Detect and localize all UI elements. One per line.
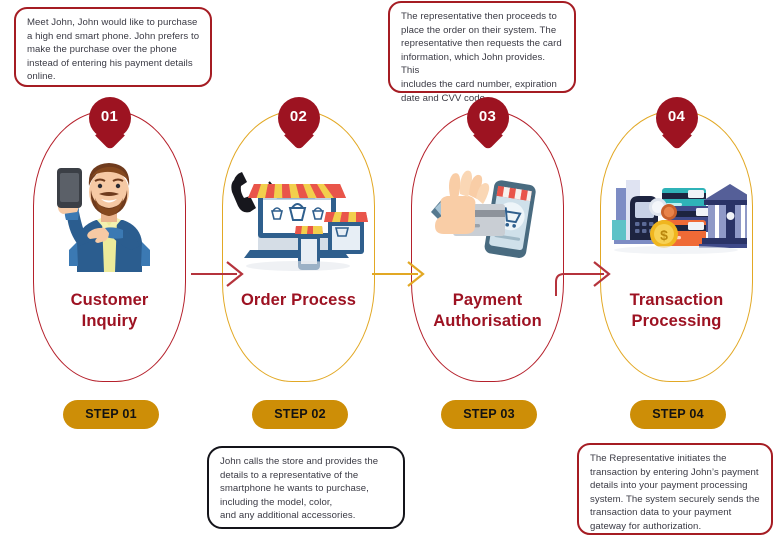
step-4-number-label: 04 bbox=[656, 97, 698, 137]
step-3-number-label: 03 bbox=[467, 97, 509, 137]
svg-text:$: $ bbox=[660, 227, 668, 243]
step-1-title: Customer Inquiry bbox=[36, 290, 183, 332]
step-badge-4[interactable]: STEP 04 bbox=[630, 400, 726, 429]
step-2-number-label: 02 bbox=[278, 97, 320, 137]
step-card-4[interactable]: 04 bbox=[600, 110, 753, 382]
step-1-number-pin: 01 bbox=[89, 97, 131, 139]
step-badge-2[interactable]: STEP 02 bbox=[252, 400, 348, 429]
step-card-3[interactable]: 03 bbox=[411, 110, 564, 382]
infographic-canvas: Meet John, John would like to purchase a… bbox=[0, 0, 780, 537]
callout-note-step2: The representative then proceeds to plac… bbox=[388, 1, 576, 93]
callout-note-step3: John calls the store and provides the de… bbox=[207, 446, 405, 529]
step-3-number-pin: 03 bbox=[467, 97, 509, 139]
step-3-title: Payment Authorisation bbox=[414, 290, 561, 332]
step-2-title: Order Process bbox=[225, 290, 372, 311]
bearded-man-holding-phone-icon bbox=[39, 154, 180, 274]
callout-note-step1: Meet John, John would like to purchase a… bbox=[14, 7, 212, 87]
step-2-number-pin: 02 bbox=[278, 97, 320, 139]
step-4-title: Transaction Processing bbox=[603, 290, 750, 332]
callout-note-step4: The Representative initiates the transac… bbox=[577, 443, 773, 535]
step-4-number-pin: 04 bbox=[656, 97, 698, 139]
step-card-1[interactable]: 01 bbox=[33, 110, 186, 382]
phone-handset-laptop-storefront-icon bbox=[228, 154, 369, 274]
hand-holding-credit-card-mobile-icon bbox=[417, 154, 558, 274]
pos-terminal-cards-bank-icon: $ bbox=[606, 154, 747, 274]
step-badge-3[interactable]: STEP 03 bbox=[441, 400, 537, 429]
step-1-number-label: 01 bbox=[89, 97, 131, 137]
step-card-2[interactable]: 02 bbox=[222, 110, 375, 382]
step-badge-1[interactable]: STEP 01 bbox=[63, 400, 159, 429]
